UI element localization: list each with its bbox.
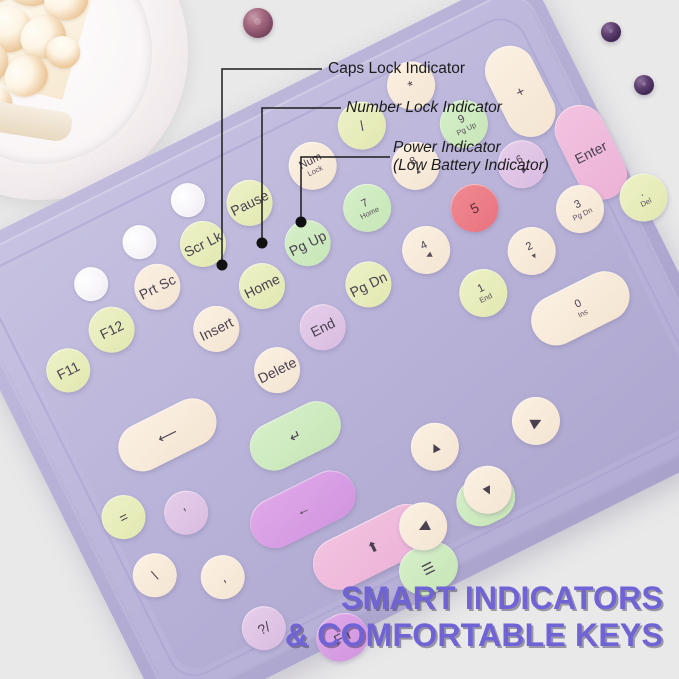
power-leader xyxy=(301,157,390,222)
callout-label-power-line2: (Low Battery Indicator) xyxy=(393,157,549,175)
callout-leader-lines xyxy=(0,0,679,679)
product-feature-image: F11F12Prt ScScr LkPauseNumLock/*InsertHo… xyxy=(0,0,679,679)
callout-label-power: Power Indicator (Low Battery Indicator) xyxy=(393,139,549,175)
headline-line-1: SMART INDICATORS xyxy=(285,580,663,618)
headline: SMART INDICATORS & COMFORTABLE KEYS xyxy=(285,580,663,656)
callout-label-power-line1: Power Indicator xyxy=(393,139,501,156)
caps-lock-leader-dot xyxy=(217,260,228,271)
callout-label-num-lock: Number Lock Indicator xyxy=(346,99,502,117)
caps-lock-leader xyxy=(222,69,322,265)
headline-line-2: & COMFORTABLE KEYS xyxy=(285,617,663,655)
power-leader-dot xyxy=(296,217,307,228)
callout-label-caps-lock: Caps Lock Indicator xyxy=(328,60,465,78)
num-lock-leader-dot xyxy=(257,238,268,249)
